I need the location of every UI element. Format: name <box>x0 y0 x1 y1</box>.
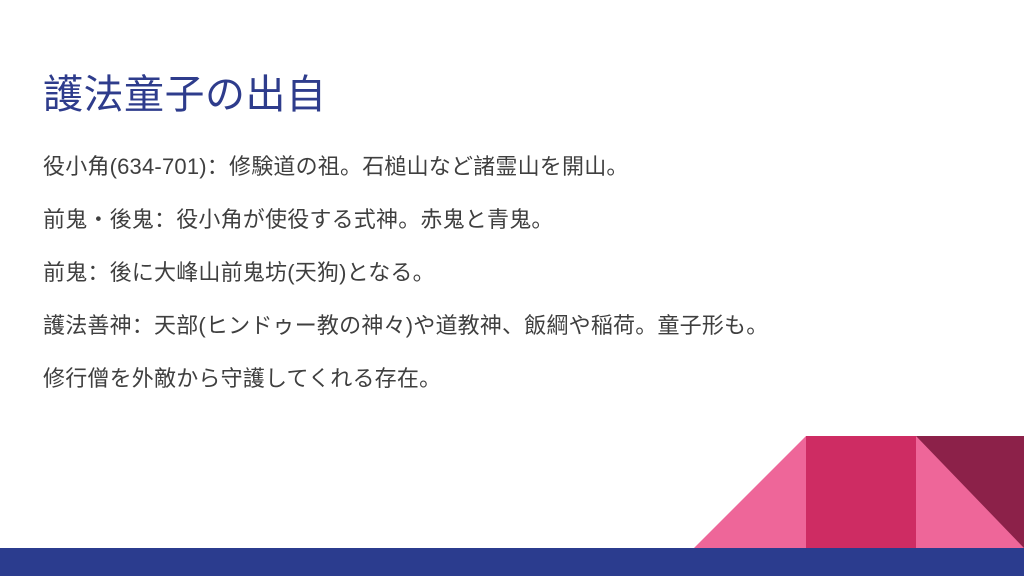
body-line: 修行僧を外敵から守護してくれる存在。 <box>43 352 963 405</box>
body-line: 護法善神：天部(ヒンドゥー教の神々)や道教神、飯綱や稲荷。童子形も。 <box>43 299 963 352</box>
body-line: 前鬼：後に大峰山前鬼坊(天狗)となる。 <box>43 246 963 299</box>
body-line: 前鬼・後鬼：役小角が使役する式神。赤鬼と青鬼。 <box>43 193 963 246</box>
bottom-accent-bar <box>0 548 1024 576</box>
body-line: 役小角(634-701)：修験道の祖。石槌山など諸霊山を開山。 <box>43 140 963 193</box>
triangle-light-pink-left <box>694 436 806 548</box>
body-text-block: 役小角(634-701)：修験道の祖。石槌山など諸霊山を開山。 前鬼・後鬼：役小… <box>43 140 963 405</box>
decorative-triangles <box>690 430 1024 549</box>
page-title: 護法童子の出自 <box>43 71 923 119</box>
slide-canvas: 護法童子の出自 役小角(634-701)：修験道の祖。石槌山など諸霊山を開山。 … <box>0 0 1024 576</box>
block-crimson-center <box>806 436 916 548</box>
